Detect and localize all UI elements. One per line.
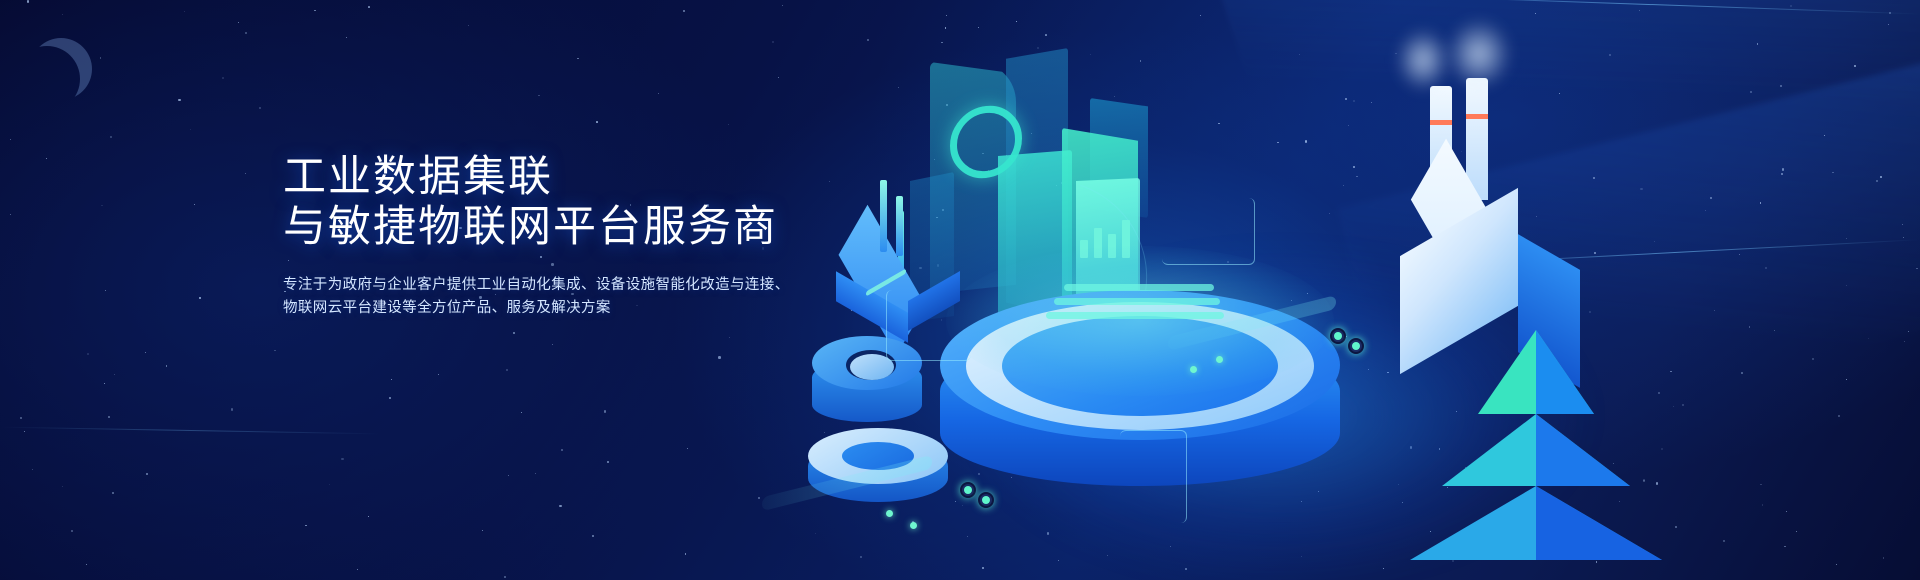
disc-stripe-1 <box>1064 284 1214 291</box>
pyramid-mid-right <box>1536 414 1630 486</box>
smoke-puff-right <box>1446 18 1512 90</box>
sensor-pole-2 <box>896 196 903 256</box>
headline-line-1: 工业数据集联 <box>283 152 843 202</box>
signal-dot-4 <box>1216 356 1223 363</box>
cable-disc-to-pyramid <box>1120 430 1187 523</box>
cable-panel-to-factory <box>1162 198 1255 265</box>
connector-node-1 <box>960 482 976 498</box>
connector-node-2 <box>978 492 994 508</box>
signal-dot-3 <box>1190 366 1197 373</box>
headline-line-2: 与敏捷物联网平台服务商 <box>283 202 843 252</box>
disc-stripe-2 <box>1054 298 1220 305</box>
subtitle-line-2: 物联网云平台建设等全方位产品、服务及解决方案 <box>283 297 843 320</box>
cable-router-to-disc <box>886 290 971 361</box>
signal-dot-1 <box>886 510 893 517</box>
layered-pyramid <box>1410 330 1650 580</box>
connector-node-4 <box>1348 338 1364 354</box>
hero-illustration <box>790 0 1920 580</box>
decorative-line-left <box>0 427 380 435</box>
subtitle-line-1: 专注于为政府与企业客户提供工业自动化集成、设备设施智能化改造与连接、 <box>283 274 843 297</box>
hero-banner: 工业数据集联 与敏捷物联网平台服务商 专注于为政府与企业客户提供工业自动化集成、… <box>0 0 1920 580</box>
page-title: 工业数据集联 与敏捷物联网平台服务商 <box>283 152 843 252</box>
connector-node-3 <box>1330 328 1346 344</box>
signal-dot-2 <box>910 522 917 529</box>
smoke-puff-left <box>1396 28 1450 92</box>
hero-subtitle: 专注于为政府与企业客户提供工业自动化集成、设备设施智能化改造与连接、 物联网云平… <box>283 274 843 320</box>
pyramid-base-right <box>1536 486 1662 560</box>
disc-stripe-3 <box>1046 312 1224 319</box>
pyramid-top-right <box>1536 330 1594 414</box>
crescent-moon-icon <box>30 38 92 100</box>
sensor-pole-1 <box>880 180 887 252</box>
hero-copy: 工业数据集联 与敏捷物联网平台服务商 专注于为政府与企业客户提供工业自动化集成、… <box>283 152 843 320</box>
